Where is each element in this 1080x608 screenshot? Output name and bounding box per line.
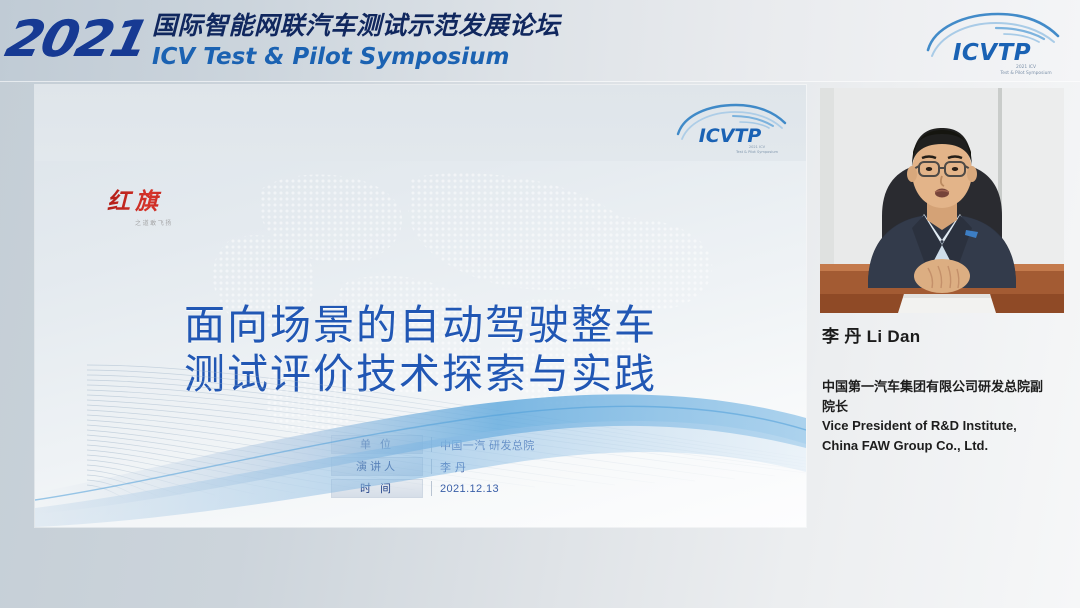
speaker-title-cn-line-1: 中国第一汽车集团有限公司研发总院副 xyxy=(822,377,1070,397)
speaker-title-block: 中国第一汽车集团有限公司研发总院副 院长 Vice President of R… xyxy=(822,377,1070,455)
speaker-portrait-image xyxy=(820,88,1064,313)
banner-title-en: ICV Test & Pilot Symposium xyxy=(152,42,560,72)
speaker-photo xyxy=(820,88,1064,313)
icvtp-logo-header: ICVTP 2021 ICV Test & Pilot Symposium xyxy=(920,6,1066,76)
banner-title-cn: 国际智能网联汽车测试示范发展论坛 xyxy=(152,11,560,41)
header-banner: 2021 国际智能网联汽车测试示范发展论坛 ICV Test & Pilot S… xyxy=(0,0,1080,82)
presentation-slide[interactable]: 红旗 之道敢飞扬 ICVTP 2021 ICV Test & Pilot Sym… xyxy=(35,85,806,527)
year-logo-text: 2021 xyxy=(1,10,154,68)
icvtp-logo-slide: ICVTP 2021 ICV Test & Pilot Symposium xyxy=(673,99,788,155)
svg-text:2021 ICV: 2021 ICV xyxy=(749,145,766,149)
year-2021-logo: 2021 xyxy=(14,10,146,68)
svg-text:ICVTP: ICVTP xyxy=(953,40,1031,66)
decorative-wave-graphic xyxy=(35,362,806,527)
svg-text:2021 ICV: 2021 ICV xyxy=(1016,64,1036,70)
banner-title-group: 国际智能网联汽车测试示范发展论坛 ICV Test & Pilot Sympos… xyxy=(152,11,560,72)
speaker-title-en-line-2: China FAW Group Co., Ltd. xyxy=(822,436,1070,456)
speaker-name: 李 丹 Li Dan xyxy=(822,322,1072,347)
hongqi-logo-tagline: 之道敢飞扬 xyxy=(107,218,201,227)
hongqi-logo-text: 红旗 xyxy=(107,188,201,215)
icvtp-slide-logo-icon: ICVTP 2021 ICV Test & Pilot Symposium xyxy=(673,99,788,155)
svg-text:ICVTP: ICVTP xyxy=(699,125,762,147)
hongqi-brand-logo: 红旗 之道敢飞扬 xyxy=(107,188,201,236)
speaker-title-en-line-1: Vice President of R&D Institute, xyxy=(822,416,1070,436)
svg-text:Test & Pilot Symposium: Test & Pilot Symposium xyxy=(999,70,1051,76)
slide-title-line-1: 面向场景的自动驾驶整车 xyxy=(35,301,806,350)
speaker-title-cn-line-2: 院长 xyxy=(822,397,1070,417)
svg-text:Test & Pilot Symposium: Test & Pilot Symposium xyxy=(735,150,779,154)
icvtp-logo-icon: ICVTP 2021 ICV Test & Pilot Symposium xyxy=(920,6,1066,76)
